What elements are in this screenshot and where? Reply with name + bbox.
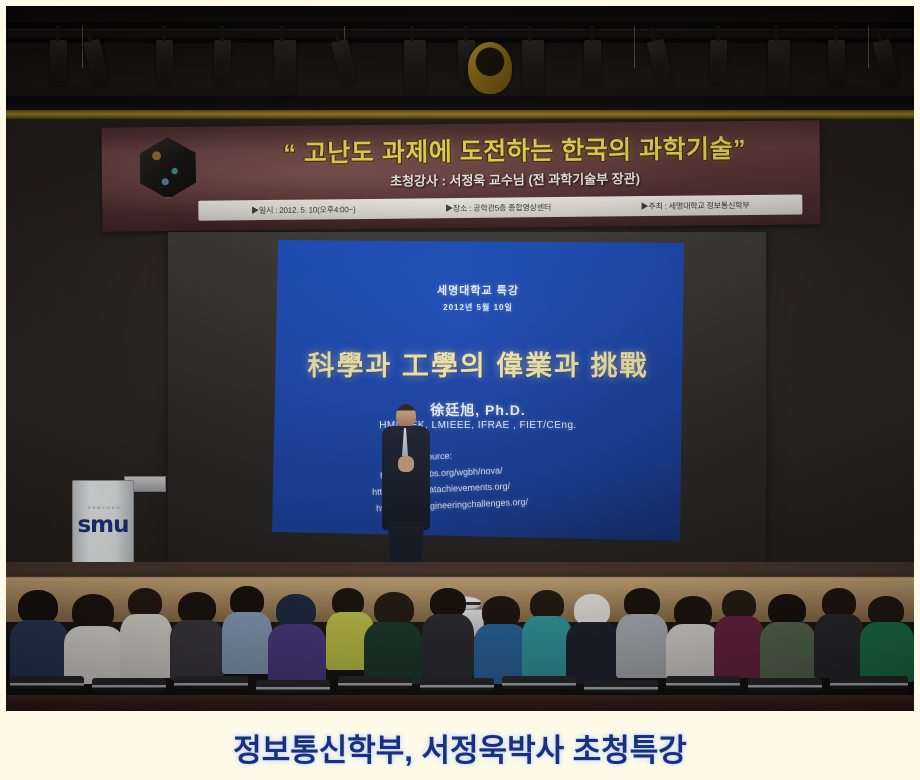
banner-detail-venue: ▶장소 : 공학관5층 종합영상센터 <box>445 202 551 214</box>
audience-torso <box>616 614 668 678</box>
banner-subtitle: 초청강사 : 서정욱 교수님 (전 과학기술부 장관) <box>220 166 810 191</box>
stage-light <box>214 40 231 86</box>
seat-chair <box>338 676 412 689</box>
seat-chair <box>502 676 576 689</box>
audience-torso <box>422 614 474 678</box>
stage-light <box>828 40 845 86</box>
slide-credentials: HMNAEK, LMIEEE, IFRAE , FIET/CEng. <box>272 420 684 431</box>
lamp-wire <box>868 26 869 68</box>
audience-head-cap <box>276 594 316 628</box>
audience-torso <box>170 620 224 680</box>
seat-chair <box>92 678 166 691</box>
seat-chair <box>666 676 740 689</box>
slide-author: 徐廷旭, Ph.D. <box>272 400 684 420</box>
auditorium-floor <box>6 695 914 711</box>
stage-light <box>768 40 790 96</box>
audience-torso <box>10 620 68 682</box>
stage-light <box>873 39 901 88</box>
truss-beam-lower <box>6 96 914 106</box>
stage-edge <box>6 562 914 570</box>
stage-light <box>274 40 296 96</box>
stage-light <box>83 39 111 88</box>
caption-bar: 정보통신학부, 서정욱박사 초청특강 <box>0 714 920 780</box>
banner-detail-datetime: ▶일시 : 2012. 5. 10(오후4:00~) <box>251 204 356 216</box>
presenter-hands-microphone <box>398 456 414 472</box>
seat-chair <box>420 678 494 691</box>
stage-banner: “ 고난도 과제에 도전하는 한국의 과학기술” 초청강사 : 서정욱 교수님 … <box>101 120 820 232</box>
seat-chair <box>256 680 330 693</box>
audience-seating <box>6 584 914 711</box>
smu-logo: smu <box>73 512 133 538</box>
audience-torso <box>522 616 572 678</box>
audience-torso <box>474 624 528 684</box>
lecture-photograph: “ 고난도 과제에 도전하는 한국의 과학기술” 초청강사 : 서정욱 교수님 … <box>6 6 914 711</box>
seat-chair <box>830 676 908 689</box>
audience-torso <box>860 622 914 682</box>
audience-torso-backpack <box>760 622 816 684</box>
presentation-slide: 세명대학교 특강 2012년 5월 10일 科學과 工學의 偉業과 挑戰 徐廷旭… <box>272 240 684 544</box>
seat-chair <box>174 676 248 689</box>
stage-light <box>647 39 675 88</box>
stage-light <box>710 40 727 86</box>
stage-light <box>156 40 173 86</box>
stage-light <box>50 40 67 86</box>
banner-details-strip: ▶일시 : 2012. 5. 10(오후4:00~) ▶장소 : 공학관5층 종… <box>198 194 802 220</box>
stage-light <box>584 40 601 86</box>
slide-title: 科學과 工學의 偉業과 挑戰 <box>272 344 684 383</box>
banner-title: “ 고난도 과제에 도전하는 한국의 과학기술” <box>220 128 810 170</box>
lamp-wire <box>634 26 635 68</box>
photo-page: “ 고난도 과제에 도전하는 한국의 과학기술” 초청강사 : 서정욱 교수님 … <box>0 0 920 780</box>
banner-detail-host: ▶주최 : 세명대학교 정보통신학부 <box>641 199 750 211</box>
slide-header: 세명대학교 특강 <box>272 282 684 298</box>
audience-head <box>18 590 58 624</box>
audience-torso <box>364 622 422 684</box>
audience-head <box>374 592 414 626</box>
ceiling-truss <box>6 6 914 114</box>
projection-screen: 세명대학교 특강 2012년 5월 10일 科學과 工學의 偉業과 挑戰 徐廷旭… <box>168 232 766 568</box>
stage-pelmet <box>6 110 914 119</box>
audience-torso <box>566 622 620 684</box>
stage-light <box>331 39 359 88</box>
audience-torso <box>268 624 326 684</box>
audience-head <box>72 594 114 630</box>
stage-light <box>522 40 544 96</box>
stage-light <box>404 40 426 96</box>
audience-torso <box>666 624 720 684</box>
seat-chair <box>584 680 658 693</box>
podium-kicker-text: S E M Y U N G <box>83 505 125 510</box>
audience-torso <box>120 614 172 678</box>
seat-chair <box>10 676 84 689</box>
cube-emblem-icon <box>140 137 197 200</box>
audience-torso <box>222 612 272 674</box>
slide-date: 2012년 5월 10일 <box>272 302 684 313</box>
audience-torso <box>714 616 764 678</box>
seat-chair <box>748 678 822 691</box>
caption-text: 정보통신학부, 서정욱박사 초청특강 <box>233 725 687 770</box>
audience-torso <box>814 614 864 678</box>
stage-emblem <box>468 42 512 94</box>
presenter-head <box>396 404 416 428</box>
